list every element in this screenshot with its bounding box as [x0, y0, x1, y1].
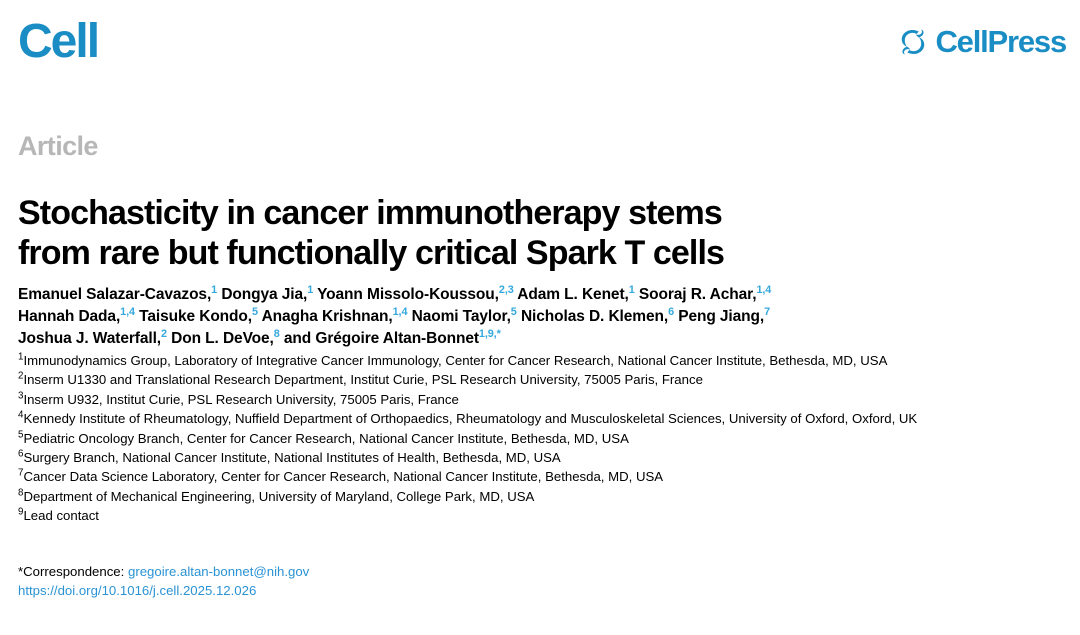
correspondence-line: *Correspondence: gregoire.altan-bonnet@n… [18, 562, 718, 581]
affiliation-text: Inserm U932, Institut Curie, PSL Researc… [23, 392, 458, 407]
title-line-1: Stochasticity in cancer immunotherapy st… [18, 193, 918, 233]
author-list: Emanuel Salazar-Cavazos,1 Dongya Jia,1 Y… [18, 284, 1018, 350]
affiliation-item: 2Inserm U1330 and Translational Research… [18, 370, 1068, 389]
page-title: Stochasticity in cancer immunotherapy st… [18, 193, 918, 273]
affiliation-item: 5Pediatric Oncology Branch, Center for C… [18, 429, 1068, 448]
affiliation-text: Immunodynamics Group, Laboratory of Inte… [23, 353, 887, 368]
author-name: Hannah Dada, [18, 308, 120, 325]
footer-block: *Correspondence: gregoire.altan-bonnet@n… [18, 562, 718, 601]
title-line-2: from rare but functionally critical Spar… [18, 233, 918, 273]
masthead: Cell CellPress [0, 0, 1080, 92]
doi-line: https://doi.org/10.1016/j.cell.2025.12.0… [18, 581, 718, 600]
cellpress-logo[interactable]: CellPress [898, 26, 1066, 57]
affiliation-list: 1Immunodynamics Group, Laboratory of Int… [18, 351, 1068, 526]
doi-link[interactable]: https://doi.org/10.1016/j.cell.2025.12.0… [18, 583, 256, 598]
author-affiliation-marker: 1,4 [756, 284, 771, 296]
author-affiliation-marker: 1,9,* [479, 328, 501, 340]
author-affiliation-marker: 1,4 [393, 306, 408, 318]
author-name: Adam L. Kenet, [514, 286, 629, 303]
affiliation-item: 8Department of Mechanical Engineering, U… [18, 487, 1068, 506]
affiliation-text: Inserm U1330 and Translational Research … [23, 372, 702, 387]
author-name: Emanuel Salazar-Cavazos, [18, 286, 211, 303]
affiliation-item: 9Lead contact [18, 506, 1068, 525]
author-name: Naomi Taylor, [407, 308, 510, 325]
author-name: Dongya Jia, [217, 286, 307, 303]
author-affiliation-marker: 1,4 [120, 306, 135, 318]
author-affiliation-marker: 7 [764, 306, 770, 318]
author-name: Taisuke Kondo, [135, 308, 252, 325]
author-line: Hannah Dada,1,4 Taisuke Kondo,5 Anagha K… [18, 306, 1018, 328]
correspondence-label: *Correspondence: [18, 564, 124, 579]
author-name: Yoann Missolo-Koussou, [313, 286, 499, 303]
affiliation-text: Surgery Branch, National Cancer Institut… [23, 450, 560, 465]
affiliation-text: Lead contact [23, 508, 99, 523]
affiliation-text: Kennedy Institute of Rheumatology, Nuffi… [23, 411, 917, 426]
affiliation-text: Cancer Data Science Laboratory, Center f… [23, 469, 663, 484]
author-name: Peng Jiang, [674, 308, 764, 325]
affiliation-item: 6Surgery Branch, National Cancer Institu… [18, 448, 1068, 467]
article-type-kicker: Article [18, 133, 98, 160]
affiliation-item: 3Inserm U932, Institut Curie, PSL Resear… [18, 390, 1068, 409]
author-name: Nicholas D. Klemen, [517, 308, 668, 325]
author-line: Emanuel Salazar-Cavazos,1 Dongya Jia,1 Y… [18, 284, 1018, 306]
author-line: Joshua J. Waterfall,2 Don L. DeVoe,8 and… [18, 328, 1018, 350]
author-name: Joshua J. Waterfall, [18, 330, 161, 347]
author-name: Don L. DeVoe, [167, 330, 274, 347]
affiliation-text: Pediatric Oncology Branch, Center for Ca… [23, 431, 628, 446]
correspondence-email-link[interactable]: gregoire.altan-bonnet@nih.gov [128, 564, 309, 579]
author-name: Anagha Krishnan, [258, 308, 393, 325]
author-name: Sooraj R. Achar, [635, 286, 757, 303]
author-name: and Grégoire Altan-Bonnet [280, 330, 479, 347]
cellpress-wordmark: CellPress [935, 26, 1066, 57]
affiliation-item: 4Kennedy Institute of Rheumatology, Nuff… [18, 409, 1068, 428]
cell-journal-logo[interactable]: Cell [18, 18, 98, 66]
cellpress-chain-link-icon [898, 27, 928, 57]
affiliation-item: 1Immunodynamics Group, Laboratory of Int… [18, 351, 1068, 370]
affiliation-text: Department of Mechanical Engineering, Un… [23, 489, 534, 504]
affiliation-item: 7Cancer Data Science Laboratory, Center … [18, 467, 1068, 486]
author-affiliation-marker: 2,3 [499, 284, 514, 296]
